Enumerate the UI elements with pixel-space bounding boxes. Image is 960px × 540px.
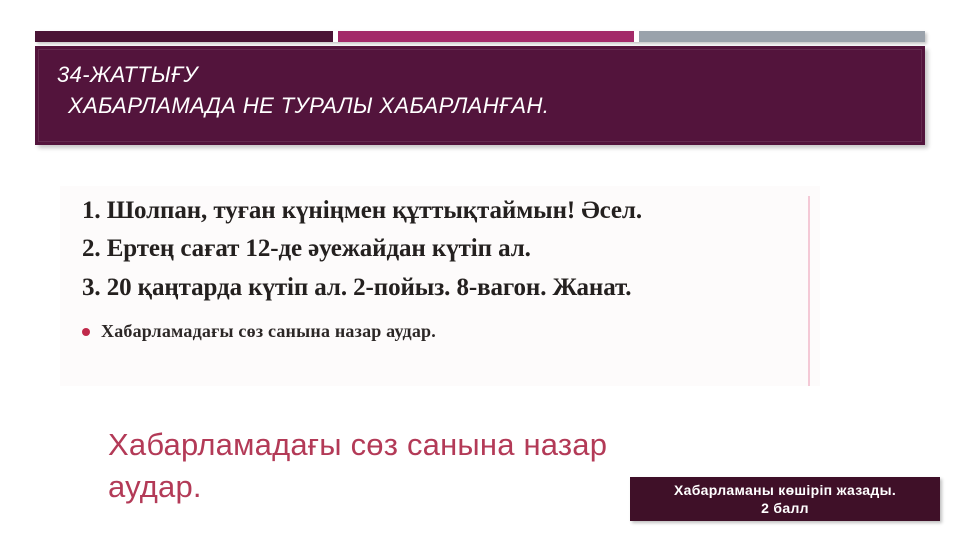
list-item: 3. 20 қаңтарда күтіп ал. 2-пойыз. 8-ваго… bbox=[82, 269, 642, 307]
scoring-criterion-text: Хабарламаны көшіріп жазады. bbox=[630, 481, 940, 499]
decorative-segment-dark bbox=[35, 31, 333, 42]
list-item: 2. Ертең сағат 12-де әуежайдан күтіп ал. bbox=[82, 230, 642, 268]
decorative-top-bar bbox=[35, 31, 925, 42]
decorative-segment-gray bbox=[639, 31, 925, 42]
excerpt-vertical-divider bbox=[808, 196, 810, 386]
slide-root: { "colors": { "band": "#53143c", "deco_d… bbox=[0, 0, 960, 540]
excerpt-numbered-list: 1. Шолпан, туған күніңмен құттықтаймын! … bbox=[82, 192, 642, 307]
decorative-segment-accent bbox=[338, 31, 633, 42]
instruction-headline: Хабарламадағы сөз санына назар аудар. bbox=[108, 424, 708, 508]
scoring-points-text: 2 балл bbox=[630, 499, 940, 517]
scoring-callout-box: Хабарламаны көшіріп жазады. 2 балл bbox=[630, 477, 940, 521]
slide-title-line-2: ХАБАРЛАМАДА НЕ ТУРАЛЫ ХАБАРЛАНҒАН. bbox=[57, 90, 925, 121]
list-item: 1. Шолпан, туған күніңмен құттықтаймын! … bbox=[82, 192, 642, 230]
excerpt-note-row: Хабарламадағы сөз санына назар аудар. bbox=[82, 321, 436, 342]
textbook-excerpt-image: 1. Шолпан, туған күніңмен құттықтаймын! … bbox=[60, 186, 820, 386]
excerpt-note-text: Хабарламадағы сөз санына назар аудар. bbox=[101, 321, 436, 342]
bullet-icon bbox=[82, 328, 90, 336]
slide-title-line-1: 34-ЖАТТЫҒУ bbox=[57, 59, 925, 90]
slide-title-band: 34-ЖАТТЫҒУ ХАБАРЛАМАДА НЕ ТУРАЛЫ ХАБАРЛА… bbox=[35, 46, 925, 145]
